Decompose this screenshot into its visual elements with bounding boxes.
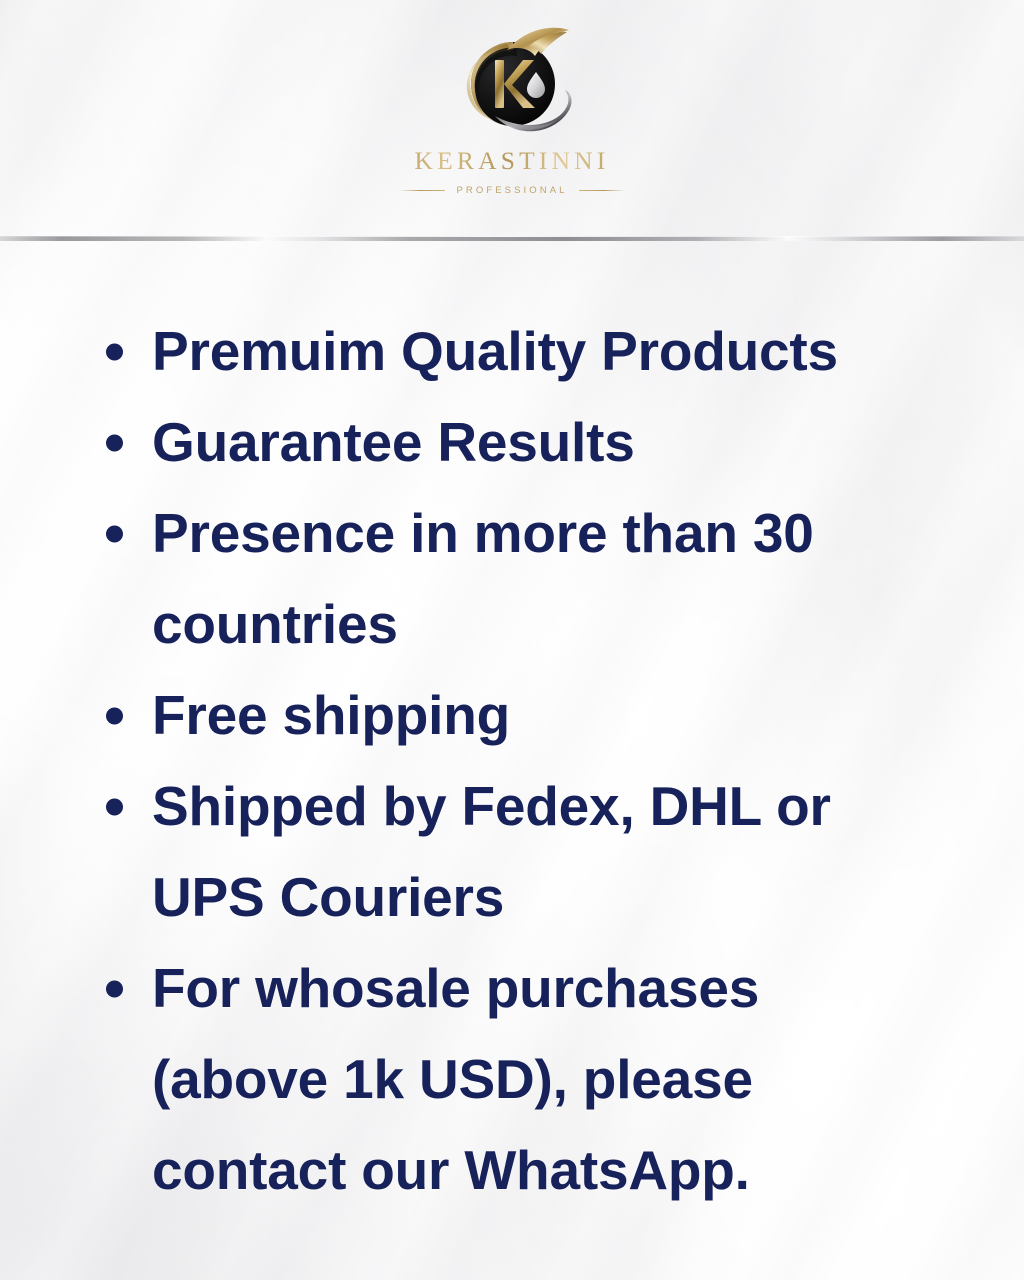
kerastinni-circle-k-droplet-icon — [437, 24, 587, 142]
feature-item: Presence in more than 30 — [100, 488, 980, 579]
features-list: Premuim Quality ProductsGuarantee Result… — [100, 306, 980, 1216]
bullet-icon — [106, 525, 123, 542]
bullet-icon — [106, 434, 123, 451]
feature-text: Presence in more than 30 — [152, 506, 814, 561]
feature-text: Guarantee Results — [152, 415, 635, 470]
feature-item-continuation: contact our WhatsApp. — [100, 1125, 980, 1216]
brand-tagline: PROFESSIONAL — [456, 185, 567, 196]
feature-item: Guarantee Results — [100, 397, 980, 488]
bullet-icon — [106, 798, 123, 815]
feature-item: Shipped by Fedex, DHL or — [100, 761, 980, 852]
header: KERASTINNI PROFESSIONAL — [0, 0, 1024, 238]
promo-card: KERASTINNI PROFESSIONAL Premuim Quality … — [0, 0, 1024, 1280]
feature-item-continuation: countries — [100, 579, 980, 670]
feature-text: Shipped by Fedex, DHL or — [152, 779, 831, 834]
feature-text: (above 1k USD), please — [152, 1052, 753, 1107]
bullet-icon — [106, 980, 123, 997]
brand-name: KERASTINNI — [382, 146, 642, 176]
feature-text: For whosale purchases — [152, 961, 759, 1016]
feature-item-continuation: UPS Couriers — [100, 852, 980, 943]
tagline-dash-left — [399, 190, 445, 192]
feature-text: Premuim Quality Products — [152, 324, 838, 379]
bullet-icon — [106, 343, 123, 360]
brand-logo: KERASTINNI PROFESSIONAL — [382, 24, 642, 196]
features-section: Premuim Quality ProductsGuarantee Result… — [0, 238, 1024, 1280]
bullet-icon — [106, 707, 123, 724]
feature-text: countries — [152, 597, 398, 652]
feature-text: UPS Couriers — [152, 870, 504, 925]
feature-item: Premuim Quality Products — [100, 306, 980, 397]
tagline-dash-right — [579, 190, 625, 192]
brand-tagline-row: PROFESSIONAL — [382, 185, 642, 196]
feature-text: contact our WhatsApp. — [152, 1143, 750, 1198]
feature-item: Free shipping — [100, 670, 980, 761]
feature-text: Free shipping — [152, 688, 510, 743]
feature-item: For whosale purchases — [100, 943, 980, 1034]
feature-item-continuation: (above 1k USD), please — [100, 1034, 980, 1125]
